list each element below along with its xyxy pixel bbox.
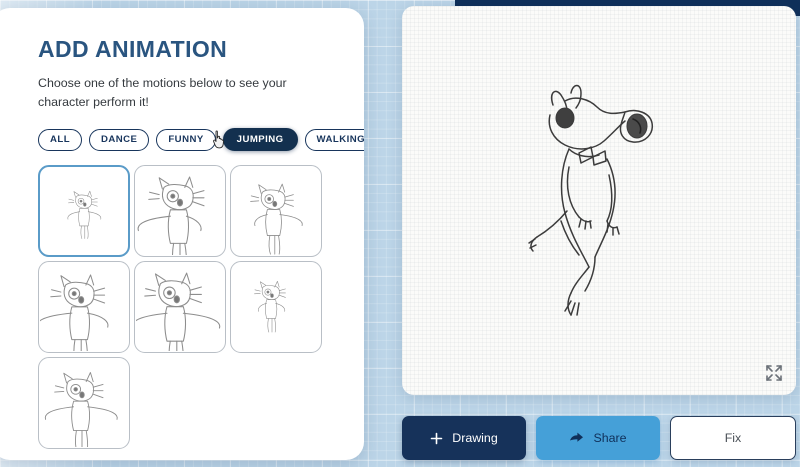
add-drawing-label: Drawing xyxy=(452,431,497,445)
bottom-action-bar: Drawing Share Fix xyxy=(402,416,796,460)
page-title: ADD ANIMATION xyxy=(38,38,364,61)
filter-pill-dance[interactable]: DANCE xyxy=(89,129,149,151)
add-animation-panel: ADD ANIMATION Choose one of the motions … xyxy=(0,8,364,460)
fix-button[interactable]: Fix xyxy=(670,416,796,460)
animation-thumb-1[interactable] xyxy=(38,165,130,257)
filter-pill-walking[interactable]: WALKING xyxy=(305,129,364,151)
animation-thumb-6[interactable] xyxy=(230,261,322,353)
filter-pill-all[interactable]: ALL xyxy=(38,129,82,151)
animation-thumb-4[interactable] xyxy=(38,261,130,353)
plus-icon xyxy=(430,432,443,445)
share-button[interactable]: Share xyxy=(536,416,660,460)
fullscreen-icon[interactable] xyxy=(764,363,784,383)
add-drawing-button[interactable]: Drawing xyxy=(402,416,526,460)
animation-thumbnail-grid xyxy=(38,165,326,449)
animation-thumb-2[interactable] xyxy=(134,165,226,257)
animation-filter-pills: ALLDANCEFUNNYJUMPINGWALKING xyxy=(38,128,364,151)
filter-pill-funny[interactable]: FUNNY xyxy=(156,129,215,151)
share-arrow-icon xyxy=(569,431,584,445)
fix-label: Fix xyxy=(725,431,742,445)
panel-subtitle: Choose one of the motions below to see y… xyxy=(38,74,300,112)
character-stage xyxy=(402,6,796,395)
share-label: Share xyxy=(593,431,626,445)
animation-thumb-3[interactable] xyxy=(230,165,322,257)
character-preview-canvas[interactable] xyxy=(402,6,796,395)
animation-thumb-5[interactable] xyxy=(134,261,226,353)
character-drawing xyxy=(509,71,689,331)
filter-pill-jumping[interactable]: JUMPING xyxy=(223,128,298,151)
animation-thumb-7[interactable] xyxy=(38,357,130,449)
